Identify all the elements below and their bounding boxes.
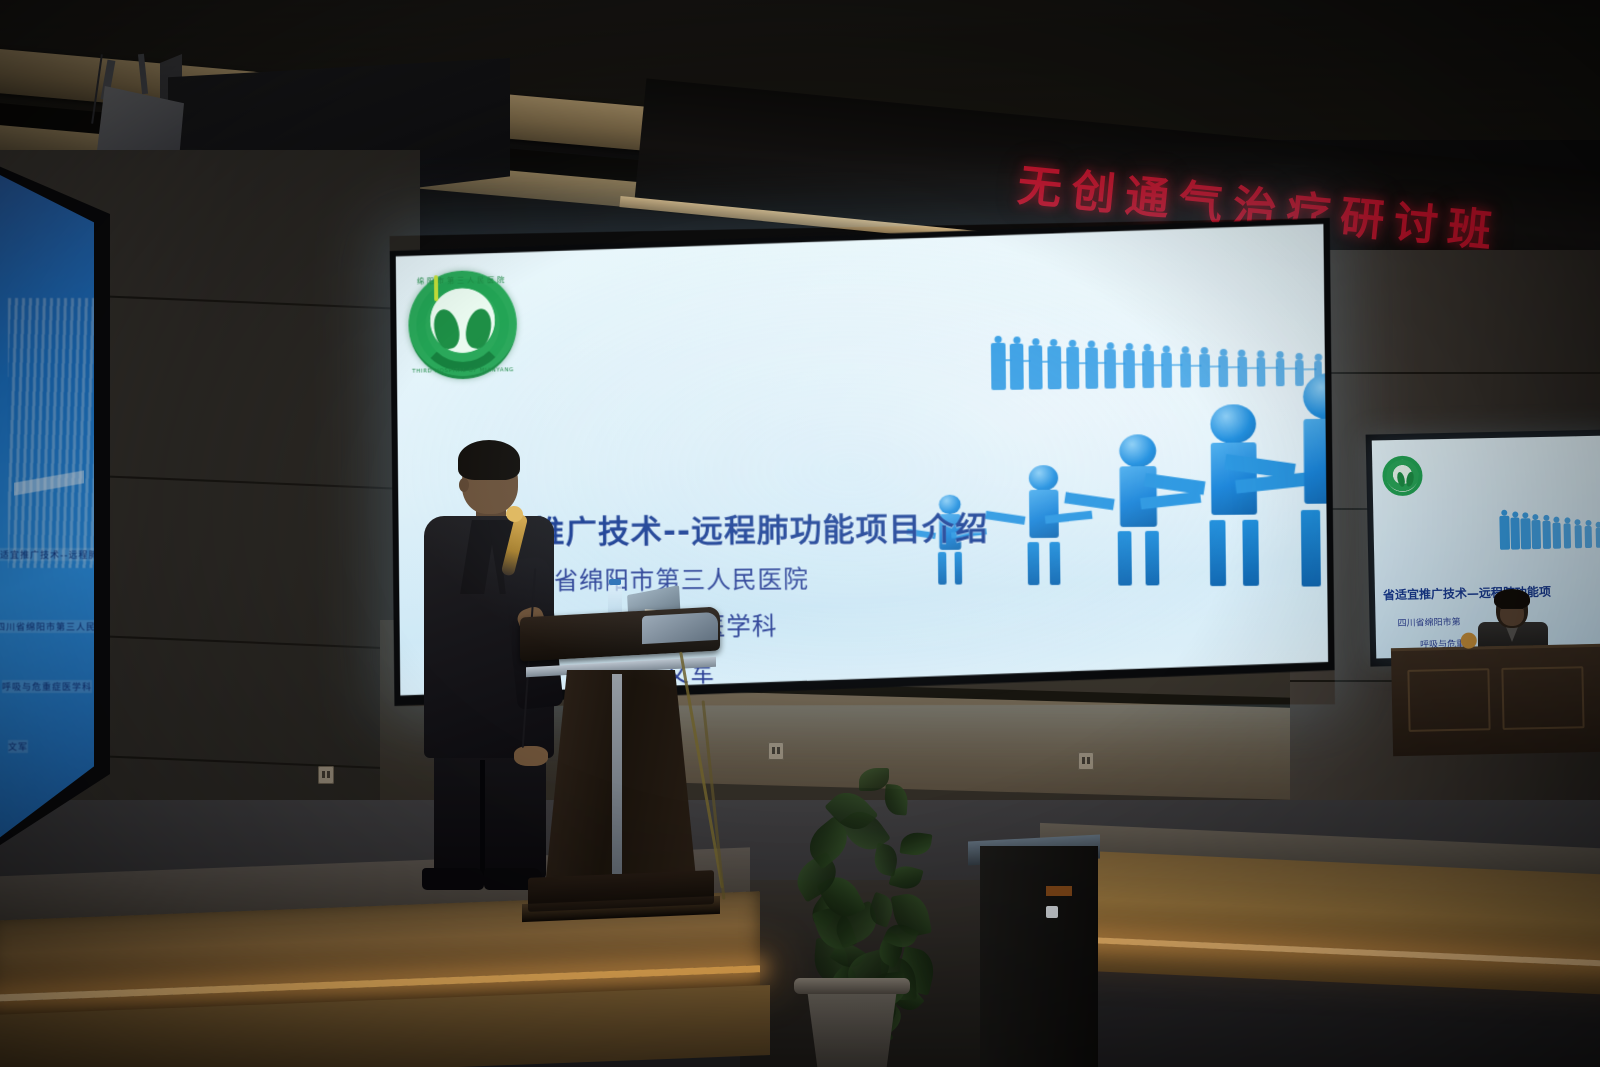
- right-panel-logo: [1382, 455, 1423, 496]
- bottle-cap: [609, 579, 621, 585]
- person-leg-left: [1301, 510, 1321, 587]
- right-panel-sub1: 四川省绵阳市第: [1397, 615, 1460, 629]
- plant-pot: [798, 986, 906, 1067]
- person-body: [1303, 418, 1329, 504]
- lectern-top-metal: [642, 612, 718, 644]
- left-panel-sub2: 呼吸与危重症医学科: [2, 680, 92, 693]
- right-wall-seam-1: [1290, 372, 1600, 374]
- left-panel-figures: [14, 418, 84, 548]
- lungs-icon: [434, 300, 491, 351]
- table-panel-left: [1407, 668, 1490, 732]
- person-figure-mini: [1574, 525, 1581, 548]
- lectern: [520, 612, 720, 922]
- near-people-row: [883, 311, 1329, 593]
- hospital-logo-text-cn: 绵阳市第三人民医院: [408, 275, 516, 287]
- scene-root: 无创通气治疗研讨班 省适宜推广技术--远程肺功能项目介绍 四川省绵阳市第三人民医…: [0, 0, 1600, 1067]
- left-led-panel: 省适宜推广技术--远程肺功能项目介绍 四川省绵阳市第三人民医院 呼吸与危重症医学…: [0, 168, 94, 848]
- person-figure-mini: [1553, 522, 1561, 548]
- person-figure-mini: [1531, 520, 1540, 550]
- presenter-leg-split: [480, 760, 485, 878]
- left-panel-sub1: 四川省绵阳市第三人民医院: [0, 620, 94, 633]
- floor-speaker-label: [1046, 886, 1072, 896]
- lectern-center-stripe: [612, 674, 622, 874]
- plant-pot-rim: [794, 978, 910, 994]
- left-panel-sub3: 文军: [8, 740, 28, 753]
- person-figure-mini: [1585, 526, 1592, 548]
- presenter-shoe-left: [422, 868, 484, 890]
- panelist-hair: [1494, 589, 1530, 609]
- panelist-glasses: [1501, 608, 1523, 614]
- wall-outlet-4: [318, 766, 334, 784]
- presenter-hair: [458, 440, 520, 480]
- table-panel-right: [1501, 666, 1584, 730]
- plant-leaf: [883, 784, 908, 816]
- left-panel-title: 省适宜推广技术--远程肺功能项目介绍: [0, 548, 94, 561]
- floor-speaker-brand-logo: [1046, 906, 1058, 918]
- person-figure-mini: [1510, 517, 1520, 550]
- person-head: [1211, 404, 1256, 445]
- right-panel-lungs-icon: [1397, 472, 1413, 488]
- bronchi-icon: [434, 275, 438, 301]
- blue-people-chain: [883, 311, 1329, 593]
- floor-speaker-cabinet: [980, 846, 1098, 1067]
- right-panel-people: [1496, 458, 1600, 550]
- person-figure-mini: [1564, 524, 1572, 549]
- person-head: [1119, 434, 1157, 468]
- person-figure-mini: [1521, 518, 1531, 549]
- person-figure: [1272, 372, 1329, 586]
- person-figure-mini: [1499, 516, 1510, 550]
- plant-leaf: [900, 830, 933, 857]
- panel-table: [1391, 644, 1600, 756]
- person-figure-mini: [1596, 528, 1600, 548]
- wall-outlet-2: [1078, 752, 1094, 770]
- presenter-ear: [459, 478, 469, 492]
- person-head: [1029, 465, 1059, 492]
- person-head: [1302, 373, 1328, 421]
- table-cup: [1461, 632, 1477, 648]
- potted-plant: [756, 748, 996, 1067]
- person-figure-mini: [1542, 521, 1551, 549]
